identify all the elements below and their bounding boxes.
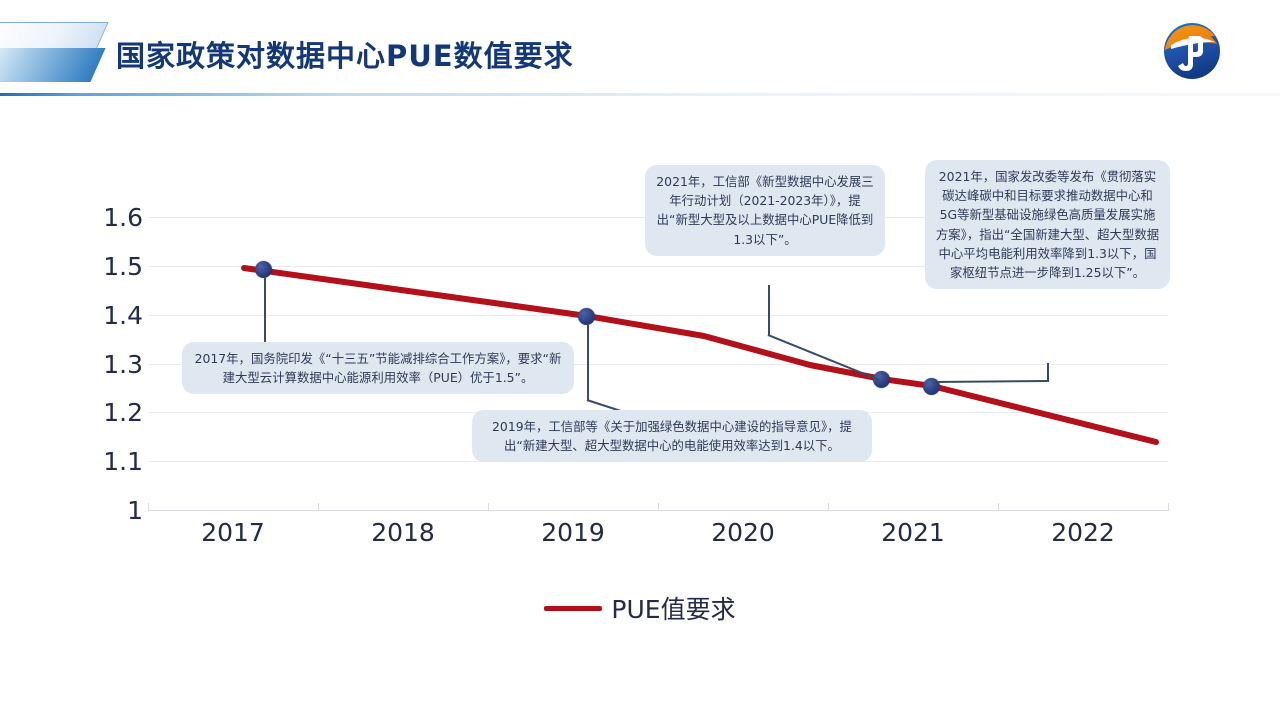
legend-label-pue: PUE值要求	[611, 590, 735, 626]
connector-2019-vertical	[587, 325, 589, 400]
slide: 国家政策对数据中心PUE数值要求	[0, 0, 1280, 720]
header-parallelogram-filled	[0, 48, 106, 82]
annotation-2019: 2019年，工信部等《关于加强绿色数据中心建设的指导意见》，提出“新建大型、超大…	[472, 410, 872, 462]
data-point-2017	[255, 261, 272, 278]
header-divider	[0, 93, 1280, 96]
annotation-2017: 2017年，国务院印发《“十三五”节能减排综合工作方案》，要求“新建大型云计算数…	[182, 342, 574, 394]
data-point-2019	[578, 308, 595, 325]
annotation-2021-miit: 2021年，工信部《新型数据中心发展三年行动计划（2021-2023年）》，提出…	[645, 165, 885, 256]
annotation-2021-ndrc: 2021年，国家发改委等发布《贯彻落实碳达峰碳中和目标要求推动数据中心和5G等新…	[925, 160, 1170, 289]
company-logo	[1163, 22, 1221, 80]
legend-swatch-pue	[544, 606, 602, 611]
connector-2017-vertical	[264, 278, 266, 343]
chart-legend: PUE值要求	[0, 590, 1280, 626]
pue-line-chart: 1.6 1.5 1.4 1.3 1.2 1.1 1 2017 2018 2019…	[0, 120, 1280, 680]
connector-2021-ndrc-vertical	[1047, 363, 1049, 381]
page-title: 国家政策对数据中心PUE数值要求	[116, 33, 574, 75]
connector-2021-miit-vertical	[768, 285, 770, 335]
